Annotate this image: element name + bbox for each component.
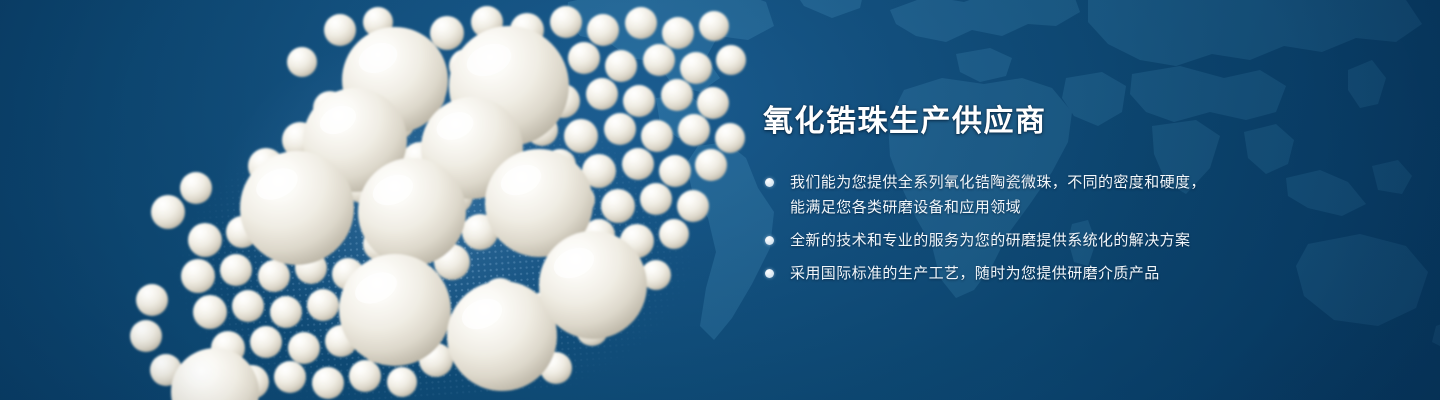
banner-copy-block: 氧化锆珠生产供应商 我们能为您提供全系列氧化锆陶瓷微珠，不同的密度和硬度， 能满… (763, 104, 1363, 286)
page-title: 氧化锆珠生产供应商 (763, 104, 1363, 140)
bullet-text-line-2: 能满足您各类研磨设备和应用领域 (790, 195, 1363, 220)
hero-banner: circle { fill: url(#bead); } 氧化锆珠生产供应商 (0, 0, 1440, 400)
bullet-dot-icon (765, 178, 774, 187)
bullet-dot-icon (765, 236, 774, 245)
feature-bullet-list: 我们能为您提供全系列氧化锆陶瓷微珠，不同的密度和硬度， 能满足您各类研磨设备和应… (763, 170, 1363, 286)
bullet-dot-icon (765, 269, 774, 278)
list-item: 全新的技术和专业的服务为您的研磨提供系统化的解决方案 (763, 228, 1363, 253)
list-item: 采用国际标准的生产工艺，随时为您提供研磨介质产品 (763, 261, 1363, 286)
bullet-text-line-1: 我们能为您提供全系列氧化锆陶瓷微珠，不同的密度和硬度， (790, 174, 1206, 191)
bullet-text-line-1: 采用国际标准的生产工艺，随时为您提供研磨介质产品 (790, 265, 1160, 282)
bullet-text-line-1: 全新的技术和专业的服务为您的研磨提供系统化的解决方案 (790, 232, 1190, 249)
list-item: 我们能为您提供全系列氧化锆陶瓷微珠，不同的密度和硬度， 能满足您各类研磨设备和应… (763, 170, 1363, 220)
